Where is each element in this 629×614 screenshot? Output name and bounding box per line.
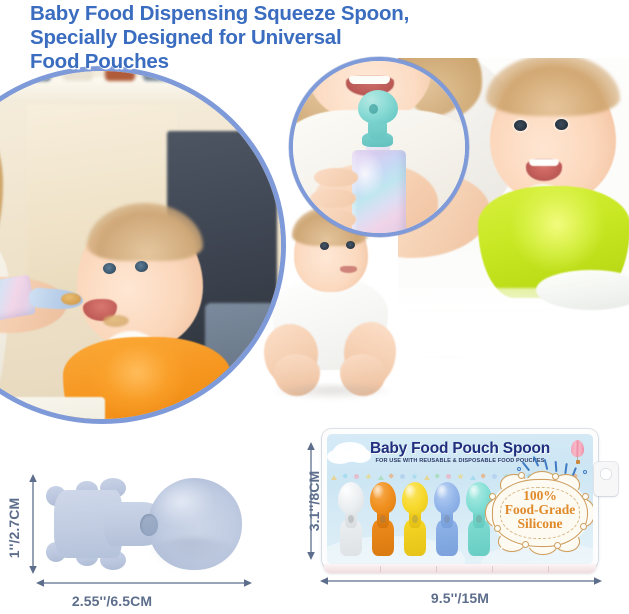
package-base-tray	[324, 564, 596, 573]
badge-bead-4	[555, 543, 560, 548]
food-grade-silicone-badge: 100% Food-Grade Silicone	[493, 480, 587, 546]
spoon-gloss	[437, 485, 448, 499]
spoon-gloss	[405, 485, 416, 499]
package-spoon-blue	[433, 482, 461, 556]
spoon-dispensing-hole	[412, 515, 418, 523]
package-spoon-white	[337, 482, 365, 556]
inset-mother-teeth	[349, 76, 390, 84]
page-title-line-2: Specially Designed for Universal	[30, 26, 500, 50]
package-dimension-diagram: Baby Food Pouch Spoon FOR USE WITH REUSA…	[300, 424, 629, 614]
inset-finger-3	[312, 210, 356, 229]
balloon-envelope	[571, 440, 584, 457]
package-spoon-lineup	[335, 482, 493, 556]
page-title-line-3: Food Pouches	[30, 50, 500, 74]
inset-finger-2	[310, 189, 356, 208]
package-front-card: Baby Food Pouch Spoon FOR USE WITH REUSA…	[327, 434, 593, 564]
baby-sitting-on-floor-photo	[268, 212, 396, 400]
inset-teal-spoon-bowl	[358, 90, 398, 124]
spoon-gloss	[373, 485, 384, 499]
hero-baby-eye-right	[555, 119, 568, 130]
badge-bead-8	[519, 473, 524, 478]
spoon-dimension-diagram: 1''/2.7CM 2.55''/6.5CM	[0, 432, 300, 614]
spoon-height-label: 1''/2.7CM	[6, 498, 22, 558]
spoon-dispensing-hole	[444, 515, 450, 523]
tray-seam-4	[548, 566, 549, 572]
food-on-spoon	[61, 293, 81, 305]
tray-seam-3	[492, 566, 493, 572]
sitting-baby-eye-right	[346, 241, 355, 249]
inset-finger-1	[314, 168, 358, 187]
baby-eye-left	[103, 263, 116, 274]
page-title-line-1: Baby Food Dispensing Squeeze Spoon,	[30, 2, 500, 26]
hero-baby-teeth	[529, 159, 559, 166]
spoon-dispensing-hole	[476, 515, 482, 523]
grey-silicone-squeeze-spoon-top-view	[42, 476, 242, 572]
spoon-dispensing-hole	[140, 514, 158, 536]
baby-food-on-chin	[103, 315, 129, 327]
badge-bead-7	[553, 474, 558, 479]
badge-line-1: 100%	[493, 489, 587, 503]
inset-spoon-dispensing-hole	[369, 104, 378, 114]
package-spoon-orange	[369, 482, 397, 556]
spoon-dispensing-hole	[348, 515, 354, 523]
sitting-baby-mouth	[340, 266, 357, 273]
package-width-arrow	[320, 576, 602, 586]
circle-inset-image	[289, 57, 469, 237]
spoon-width-arrow	[36, 578, 252, 588]
highchair-tray	[13, 397, 105, 424]
package-width-label: 9.5''/15M	[431, 590, 489, 606]
badge-text: 100% Food-Grade Silicone	[493, 489, 587, 531]
page-title: Baby Food Dispensing Squeeze Spoon, Spec…	[30, 2, 500, 74]
mother-feeding-baby-in-highchair-photo	[0, 66, 286, 424]
retail-package-box: Baby Food Pouch Spoon FOR USE WITH REUSA…	[322, 429, 598, 569]
hero-baby-hair	[486, 58, 620, 116]
tray-seam-2	[436, 566, 437, 572]
badge-bead-3	[523, 542, 528, 547]
hero-baby-eye-left	[514, 120, 527, 131]
spoon-dispensing-hole	[380, 515, 386, 523]
spoon-height-arrow	[28, 474, 38, 574]
badge-line-2: Food-Grade	[493, 503, 587, 517]
spoon-gloss	[469, 485, 480, 499]
sitting-baby-eye-left	[320, 242, 329, 250]
spoon-bowl-shading	[146, 538, 238, 572]
baby-eye-right	[135, 261, 148, 272]
hand-holding-pouch-with-teal-spoon-photo	[289, 57, 469, 237]
tray-seam-1	[380, 566, 381, 572]
package-spoon-yellow	[401, 482, 429, 556]
sitting-baby-shadow	[270, 384, 394, 400]
package-height-label: 3.1''/8CM	[306, 471, 322, 531]
left-circle-image	[0, 66, 286, 424]
package-hang-tab	[594, 462, 618, 496]
inset-iridescent-food-pouch	[352, 150, 406, 237]
spoon-width-label: 2.55''/6.5CM	[72, 593, 152, 609]
spoon-gloss	[341, 485, 352, 499]
badge-line-3: Silicone	[493, 517, 587, 531]
